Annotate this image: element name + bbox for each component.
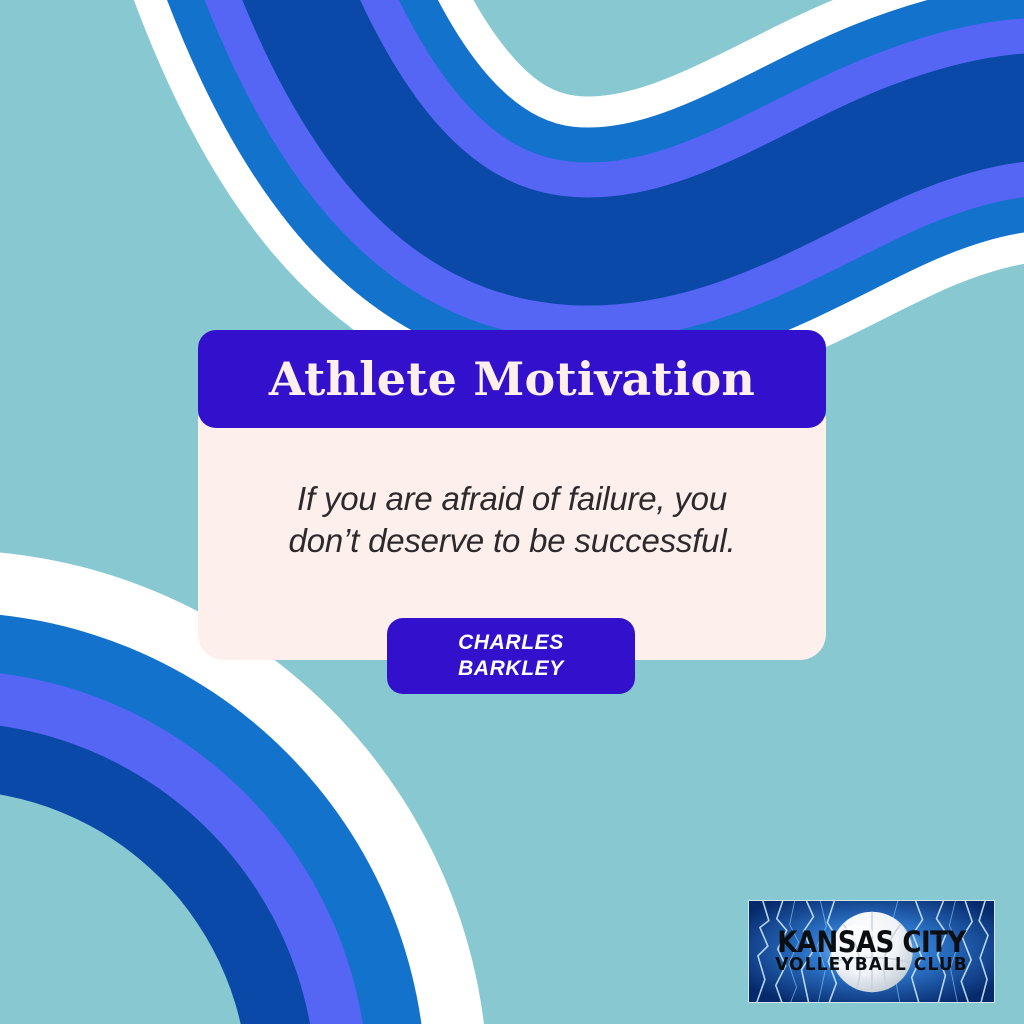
logo-line-kansas-city: KANSAS CITY (777, 928, 965, 957)
quote-card: Athlete Motivation If you are afraid of … (198, 330, 826, 660)
card-header: Athlete Motivation (198, 330, 826, 428)
club-logo[interactable]: KANSAS CITY VOLLEYBALL CLUB (748, 900, 995, 1003)
top-wave-bands (250, 0, 1024, 252)
poster-canvas: Athlete Motivation If you are afraid of … (0, 0, 1024, 1024)
author-name: CHARLES BARKLEY (458, 630, 564, 681)
logo-line-volleyball-club: VOLLEYBALL CLUB (775, 956, 968, 974)
author-badge: CHARLES BARKLEY (387, 618, 635, 694)
page-title: Athlete Motivation (269, 356, 755, 402)
quote-text: If you are afraid of failure, you don’t … (277, 478, 747, 561)
logo-text: KANSAS CITY VOLLEYBALL CLUB (749, 901, 994, 1002)
